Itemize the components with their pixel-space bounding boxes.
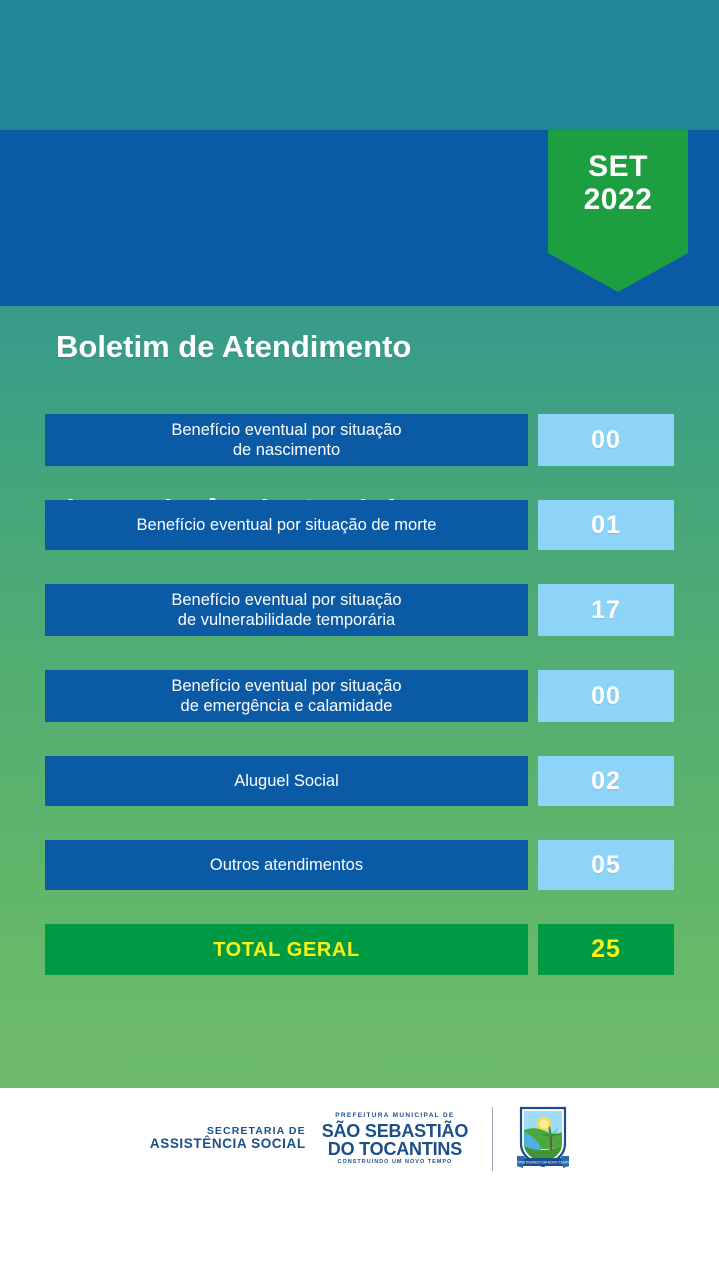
row-value: 00 — [538, 670, 674, 722]
row-label: Benefício eventual por situação de nasci… — [45, 414, 528, 466]
table-row: Outros atendimentos 05 — [45, 840, 674, 890]
coat-of-arms-icon: CONSTRUINDO UM NOVO TEMPO — [517, 1106, 569, 1172]
prefeitura-logo: PREFEITURA MUNICIPAL DE SÃO SEBASTIÃO DO… — [322, 1113, 468, 1165]
footer-logos: SECRETARIA DE ASSISTÊNCIA SOCIAL PREFEIT… — [0, 1106, 719, 1172]
prefeitura-logo-prefix: PREFEITURA MUNICIPAL DE — [322, 1113, 468, 1120]
prefeitura-logo-line-1: SÃO SEBASTIÃO — [322, 1122, 468, 1140]
poster-canvas: Boletim de Atendimento Secretaria Munici… — [0, 0, 719, 1280]
crest-banner-text: CONSTRUINDO UM NOVO TEMPO — [517, 1161, 569, 1165]
ribbon-year-label: 2022 — [584, 183, 653, 217]
prefeitura-logo-tagline: CONSTRUINDO UM NOVO TEMPO — [322, 1160, 468, 1166]
table-row: Benefício eventual por situação de nasci… — [45, 414, 674, 466]
table-row: Benefício eventual por situação de vulne… — [45, 584, 674, 636]
prefeitura-logo-line-2: DO TOCANTINS — [322, 1140, 468, 1158]
row-value: 05 — [538, 840, 674, 890]
row-value: 02 — [538, 756, 674, 806]
top-teal-band — [0, 0, 719, 130]
secretaria-logo: SECRETARIA DE ASSISTÊNCIA SOCIAL — [150, 1126, 306, 1151]
table-row-total: TOTAL GERAL 25 — [45, 924, 674, 975]
benefits-table: Benefício eventual por situação de nasci… — [45, 414, 674, 975]
footer-divider — [492, 1107, 493, 1171]
ribbon-month-label: SET — [588, 150, 648, 183]
row-label: Benefício eventual por situação de emerg… — [45, 670, 528, 722]
footer-bar: SECRETARIA DE ASSISTÊNCIA SOCIAL PREFEIT… — [0, 1088, 719, 1280]
row-label: Outros atendimentos — [45, 840, 528, 890]
table-row: Aluguel Social 02 — [45, 756, 674, 806]
table-row: Benefício eventual por situação de emerg… — [45, 670, 674, 722]
row-value: 01 — [538, 500, 674, 550]
row-value: 17 — [538, 584, 674, 636]
row-label: Benefício eventual por situação de vulne… — [45, 584, 528, 636]
row-value: 00 — [538, 414, 674, 466]
row-label: Benefício eventual por situação de morte — [45, 500, 528, 550]
total-value: 25 — [538, 924, 674, 975]
row-label: Aluguel Social — [45, 756, 528, 806]
secretaria-logo-line-2: ASSISTÊNCIA SOCIAL — [150, 1137, 306, 1151]
table-row: Benefício eventual por situação de morte… — [45, 500, 674, 550]
title-line-1: Boletim de Atendimento — [56, 326, 536, 367]
total-label: TOTAL GERAL — [45, 924, 528, 975]
